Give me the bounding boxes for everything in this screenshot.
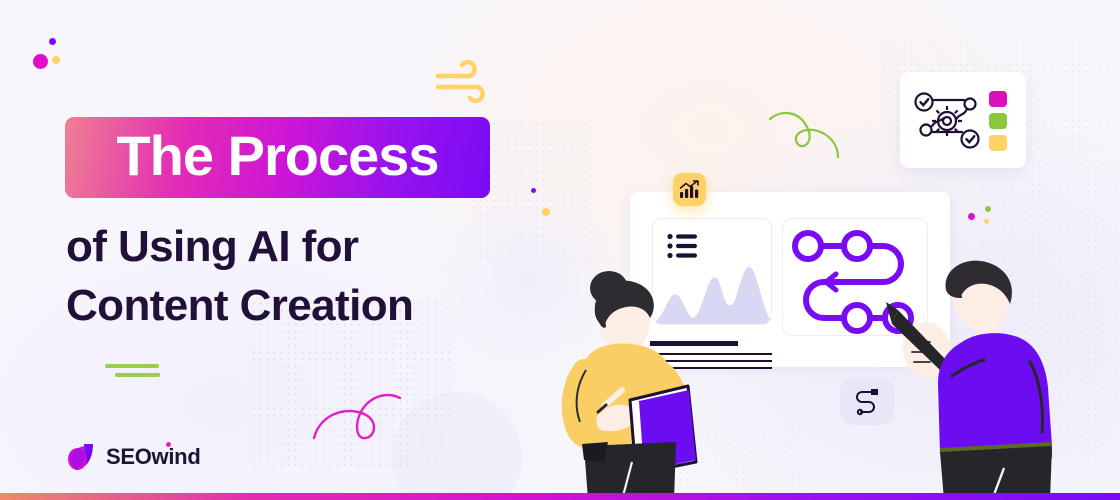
woman-with-clipboard (536, 266, 746, 500)
poster-canvas: The Process of Using AI for Content Crea… (0, 0, 1120, 500)
confetti-dot-yellow (984, 219, 989, 224)
brand-name: SEOwind (106, 444, 200, 470)
confetti-dot-yellow (542, 208, 550, 216)
subtitle-line-1: of Using AI for (66, 222, 358, 271)
title-banner: The Process (65, 117, 490, 198)
growth-chart-badge[interactable] (673, 173, 706, 206)
seowind-leaf-logo-icon (66, 441, 97, 472)
green-curl-squiggle (768, 105, 852, 163)
confetti-dot-magenta (968, 213, 975, 220)
page-subtitle: of Using AI for Content Creation (66, 218, 536, 336)
page-title: The Process (116, 128, 438, 188)
chip-green (989, 113, 1007, 129)
subtitle-line-2: Content Creation (66, 277, 536, 336)
green-dash-lines (105, 364, 160, 377)
confetti-dot-green (985, 206, 991, 212)
wind-lines-icon (436, 63, 490, 99)
confetti-dot-purple (49, 38, 56, 45)
chip-yellow (989, 135, 1007, 151)
confetti-dot-purple (531, 188, 536, 193)
confetti-dot-magenta (33, 54, 48, 69)
man-drawing-with-pen (880, 262, 1110, 500)
magenta-curl-squiggle (312, 388, 407, 443)
logo-i-dot (166, 442, 171, 447)
gear-workflow-icon (914, 90, 986, 152)
bar-chart-arrow-up-icon (679, 180, 700, 199)
bullet-list-icon (667, 233, 699, 259)
chip-magenta (989, 91, 1007, 107)
gradient-footer-bar (0, 493, 1120, 500)
process-overview-card[interactable] (900, 72, 1026, 168)
confetti-dot-yellow (52, 56, 60, 64)
winding-route-flag-icon (854, 388, 880, 416)
brand-logo[interactable]: SEOwind (66, 441, 200, 472)
